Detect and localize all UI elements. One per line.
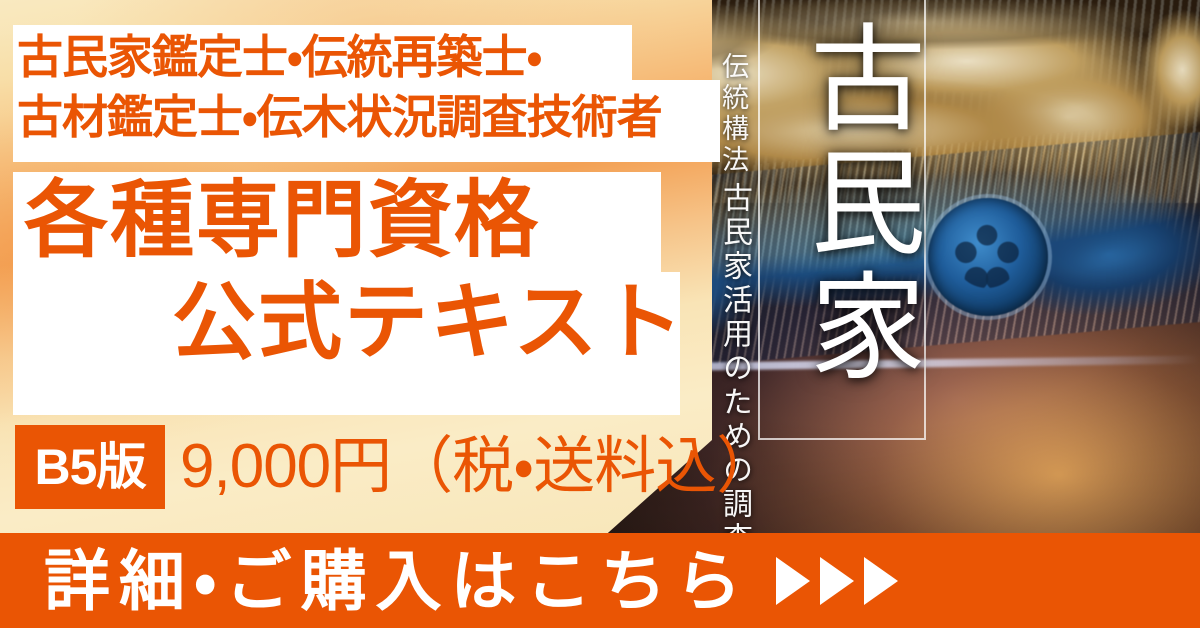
triangle-right-icon (776, 557, 810, 605)
format-badge: B5版 (15, 425, 165, 509)
headline-line-2: 公式テキスト (172, 280, 685, 364)
certification-list: 古民家鑑定士・伝統再築士・ 古材鑑定士・伝木状況調査技術者 (17, 28, 717, 148)
promo-banner[interactable]: 古民家 伝統構法 古民家活用のための調査と再生の 古民家鑑定士・伝統再築士・ 古… (0, 0, 1200, 628)
triangle-right-icon (820, 557, 854, 605)
cta-arrow-group (776, 557, 898, 605)
cta-label: 詳細・ご購入はこちら (44, 548, 750, 614)
format-badge-label: B5版 (35, 442, 146, 492)
cta-bar[interactable]: 詳細・ご購入はこちら (0, 533, 1200, 628)
certification-line-2: 古材鑑定士・伝木状況調査技術者 (17, 88, 717, 148)
triangle-right-icon (864, 557, 898, 605)
headline-line-1: 各種専門資格 (24, 178, 540, 262)
certification-line-1: 古民家鑑定士・伝統再築士・ (17, 28, 717, 88)
book-main-title: 古民家 (770, 18, 920, 390)
price-text: 9,000円（税・送料込） (180, 430, 777, 504)
